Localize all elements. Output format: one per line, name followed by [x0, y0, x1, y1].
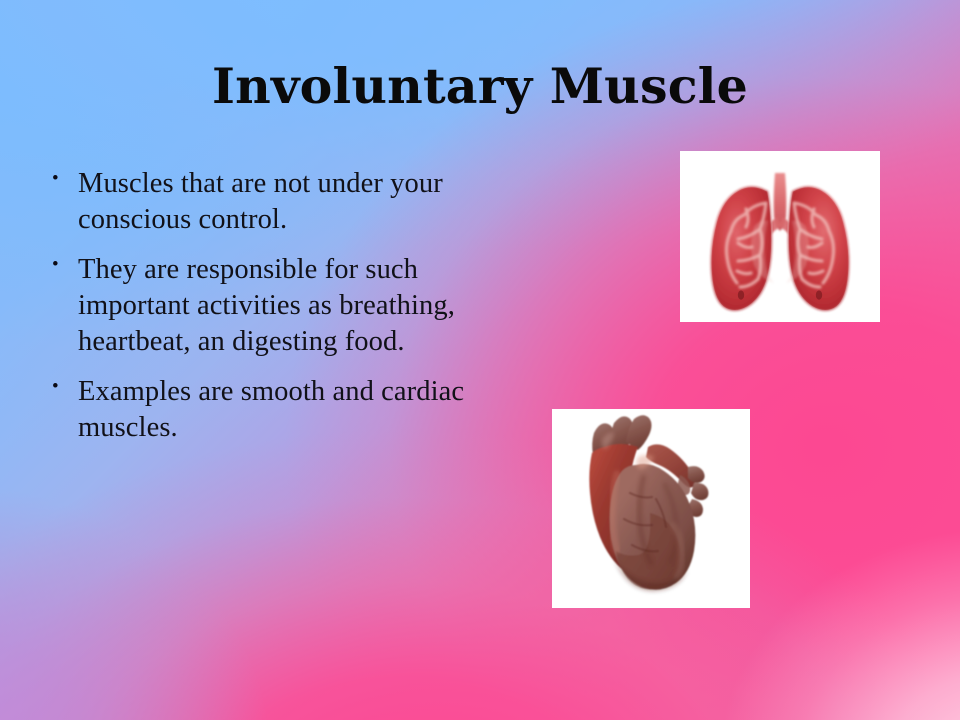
bullet-marker-icon: • — [52, 166, 78, 179]
lungs-illustration — [680, 151, 880, 322]
bullet-marker-icon: • — [52, 374, 78, 387]
presentation-slide: Involuntary Muscle • Muscles that are no… — [0, 0, 960, 720]
bullet-text-2: They are responsible for such important … — [78, 252, 484, 360]
bullet-marker-icon: • — [52, 252, 78, 265]
heart-illustration — [552, 409, 750, 608]
bullet-text-1: Muscles that are not under your consciou… — [78, 166, 484, 238]
bullet-item-2: • They are responsible for such importan… — [52, 252, 484, 360]
bullet-list: • Muscles that are not under your consci… — [52, 166, 484, 446]
bullet-item-3: • Examples are smooth and cardiac muscle… — [52, 374, 484, 446]
slide-title: Involuntary Muscle — [0, 62, 960, 111]
bullet-item-1: • Muscles that are not under your consci… — [52, 166, 484, 238]
bullet-text-3: Examples are smooth and cardiac muscles. — [78, 374, 484, 446]
